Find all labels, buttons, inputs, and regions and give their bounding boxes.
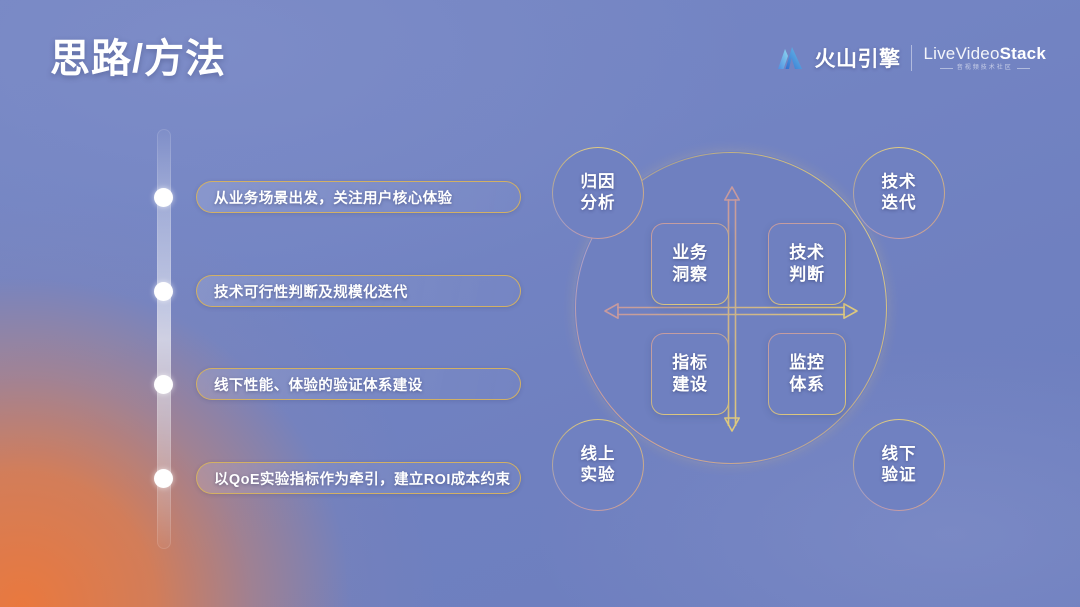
node-attribution-analysis[interactable]: 归因 分析	[552, 147, 644, 239]
lvs-bold-text: Stack	[1000, 44, 1046, 63]
quadrant-label-line2: 建设	[672, 374, 708, 396]
node-label-line2: 分析	[581, 193, 616, 214]
node-online-experiment[interactable]: 线上 实验	[552, 419, 644, 511]
timeline-item-label: 以QoE实验指标作为牵引，建立ROI成本约束	[197, 468, 510, 489]
livevideostack-logo: LiveVideoStack 音视频技术社区	[923, 45, 1046, 71]
lvs-subtitle: 音视频技术社区	[957, 65, 1013, 71]
node-label-line1: 归因	[581, 172, 616, 193]
node-label-line2: 迭代	[882, 193, 917, 214]
timeline-item-1[interactable]: 从业务场景出发，关注用户核心体验	[196, 181, 521, 213]
node-label-line1: 技术	[882, 172, 917, 193]
slide-canvas: 思路/方法 火山引擎 LiveVideoStack	[0, 0, 1080, 607]
quadrant-label-line1: 业务	[672, 242, 708, 264]
quadrant-monitoring-system[interactable]: 监控 体系	[768, 333, 846, 415]
quadrant-label-line1: 监控	[789, 352, 825, 374]
volcano-logo-text: 火山引擎	[814, 43, 900, 73]
node-label-line2: 验证	[882, 465, 917, 486]
node-label-line1: 线上	[581, 444, 616, 465]
timeline-dot-2	[154, 282, 173, 301]
node-label-line1: 线下	[882, 444, 917, 465]
methodology-diagram: 业务 洞察 技术 判断 指标 建设 监控 体系 归因 分析 技术 迭代 线上 实…	[540, 130, 980, 550]
lvs-light-text: LiveVideo	[923, 44, 999, 63]
quadrant-label-line2: 判断	[789, 264, 825, 286]
timeline-dot-1	[154, 188, 173, 207]
node-offline-validation[interactable]: 线下 验证	[853, 419, 945, 511]
quadrant-label-line2: 体系	[789, 374, 825, 396]
timeline-item-3[interactable]: 线下性能、体验的验证体系建设	[196, 368, 521, 400]
quadrant-label-line1: 指标	[672, 352, 708, 374]
timeline-dot-3	[154, 375, 173, 394]
quadrant-metric-building[interactable]: 指标 建设	[651, 333, 729, 415]
logo-divider	[911, 45, 912, 71]
lvs-rule-right	[1017, 68, 1030, 69]
brand-logos: 火山引擎 LiveVideoStack 音视频技术社区	[777, 38, 1046, 78]
node-label-line2: 实验	[581, 465, 616, 486]
quadrant-label-line2: 洞察	[672, 264, 708, 286]
node-tech-iteration[interactable]: 技术 迭代	[853, 147, 945, 239]
timeline-item-label: 从业务场景出发，关注用户核心体验	[197, 187, 452, 208]
quadrant-label-line1: 技术	[789, 242, 825, 264]
timeline-item-label: 线下性能、体验的验证体系建设	[197, 374, 423, 395]
timeline-item-2[interactable]: 技术可行性判断及规模化迭代	[196, 275, 521, 307]
quadrant-tech-judgement[interactable]: 技术 判断	[768, 223, 846, 305]
lvs-rule-left	[940, 68, 953, 69]
page-title: 思路/方法	[50, 26, 226, 84]
timeline-item-4[interactable]: 以QoE实验指标作为牵引，建立ROI成本约束	[196, 462, 521, 494]
timeline-item-label: 技术可行性判断及规模化迭代	[197, 281, 408, 302]
volcano-logo-icon	[777, 46, 803, 70]
timeline-dot-4	[154, 469, 173, 488]
quadrant-business-insight[interactable]: 业务 洞察	[651, 223, 729, 305]
